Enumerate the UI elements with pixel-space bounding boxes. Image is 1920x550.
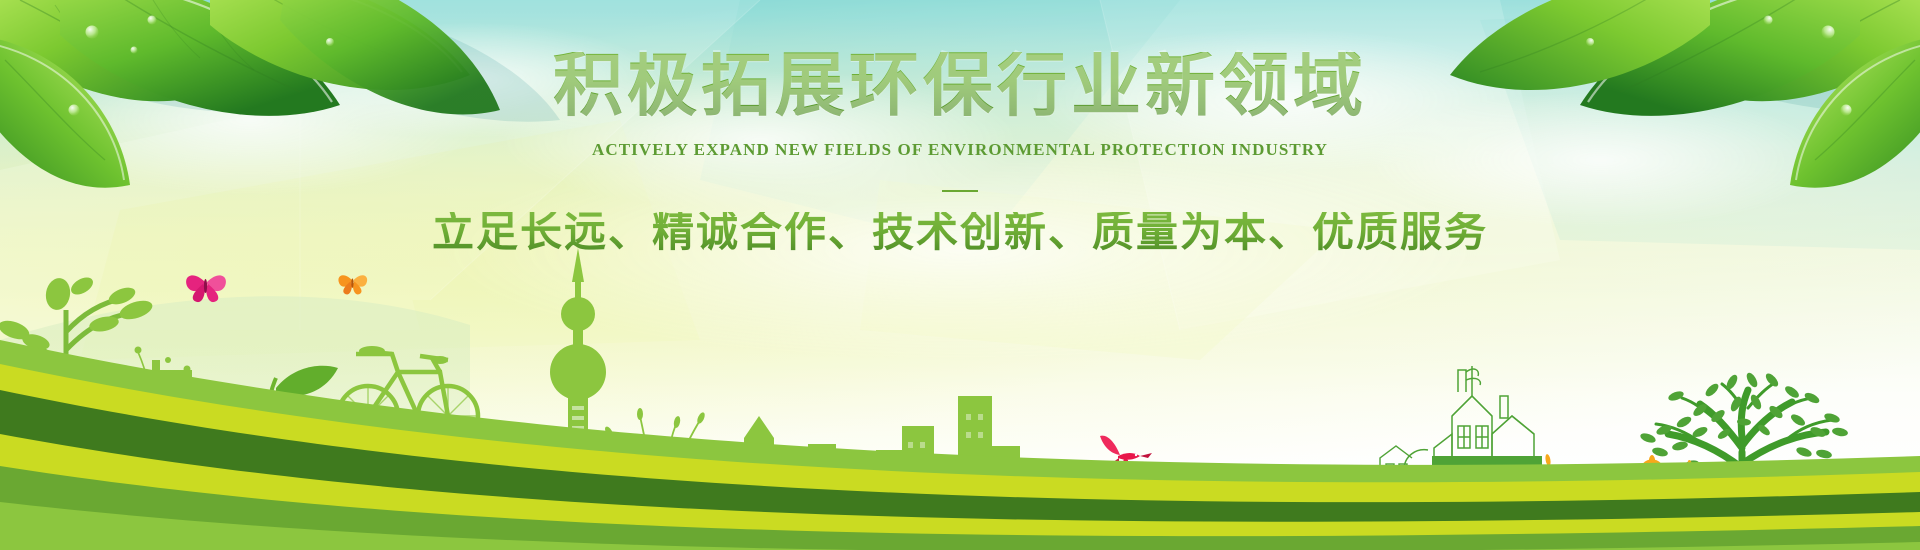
eco-banner: 积极拓展环保行业新领域 ACTIVELY EXPAND NEW FIELDS O… (0, 0, 1920, 550)
leaves-top-left (0, 0, 500, 188)
leaves-top-right (1450, 0, 1920, 188)
scenery-layer (0, 220, 1920, 550)
victorian-house (1404, 366, 1534, 470)
butterfly-orange (338, 275, 367, 294)
leaf-decorations (0, 0, 1920, 230)
